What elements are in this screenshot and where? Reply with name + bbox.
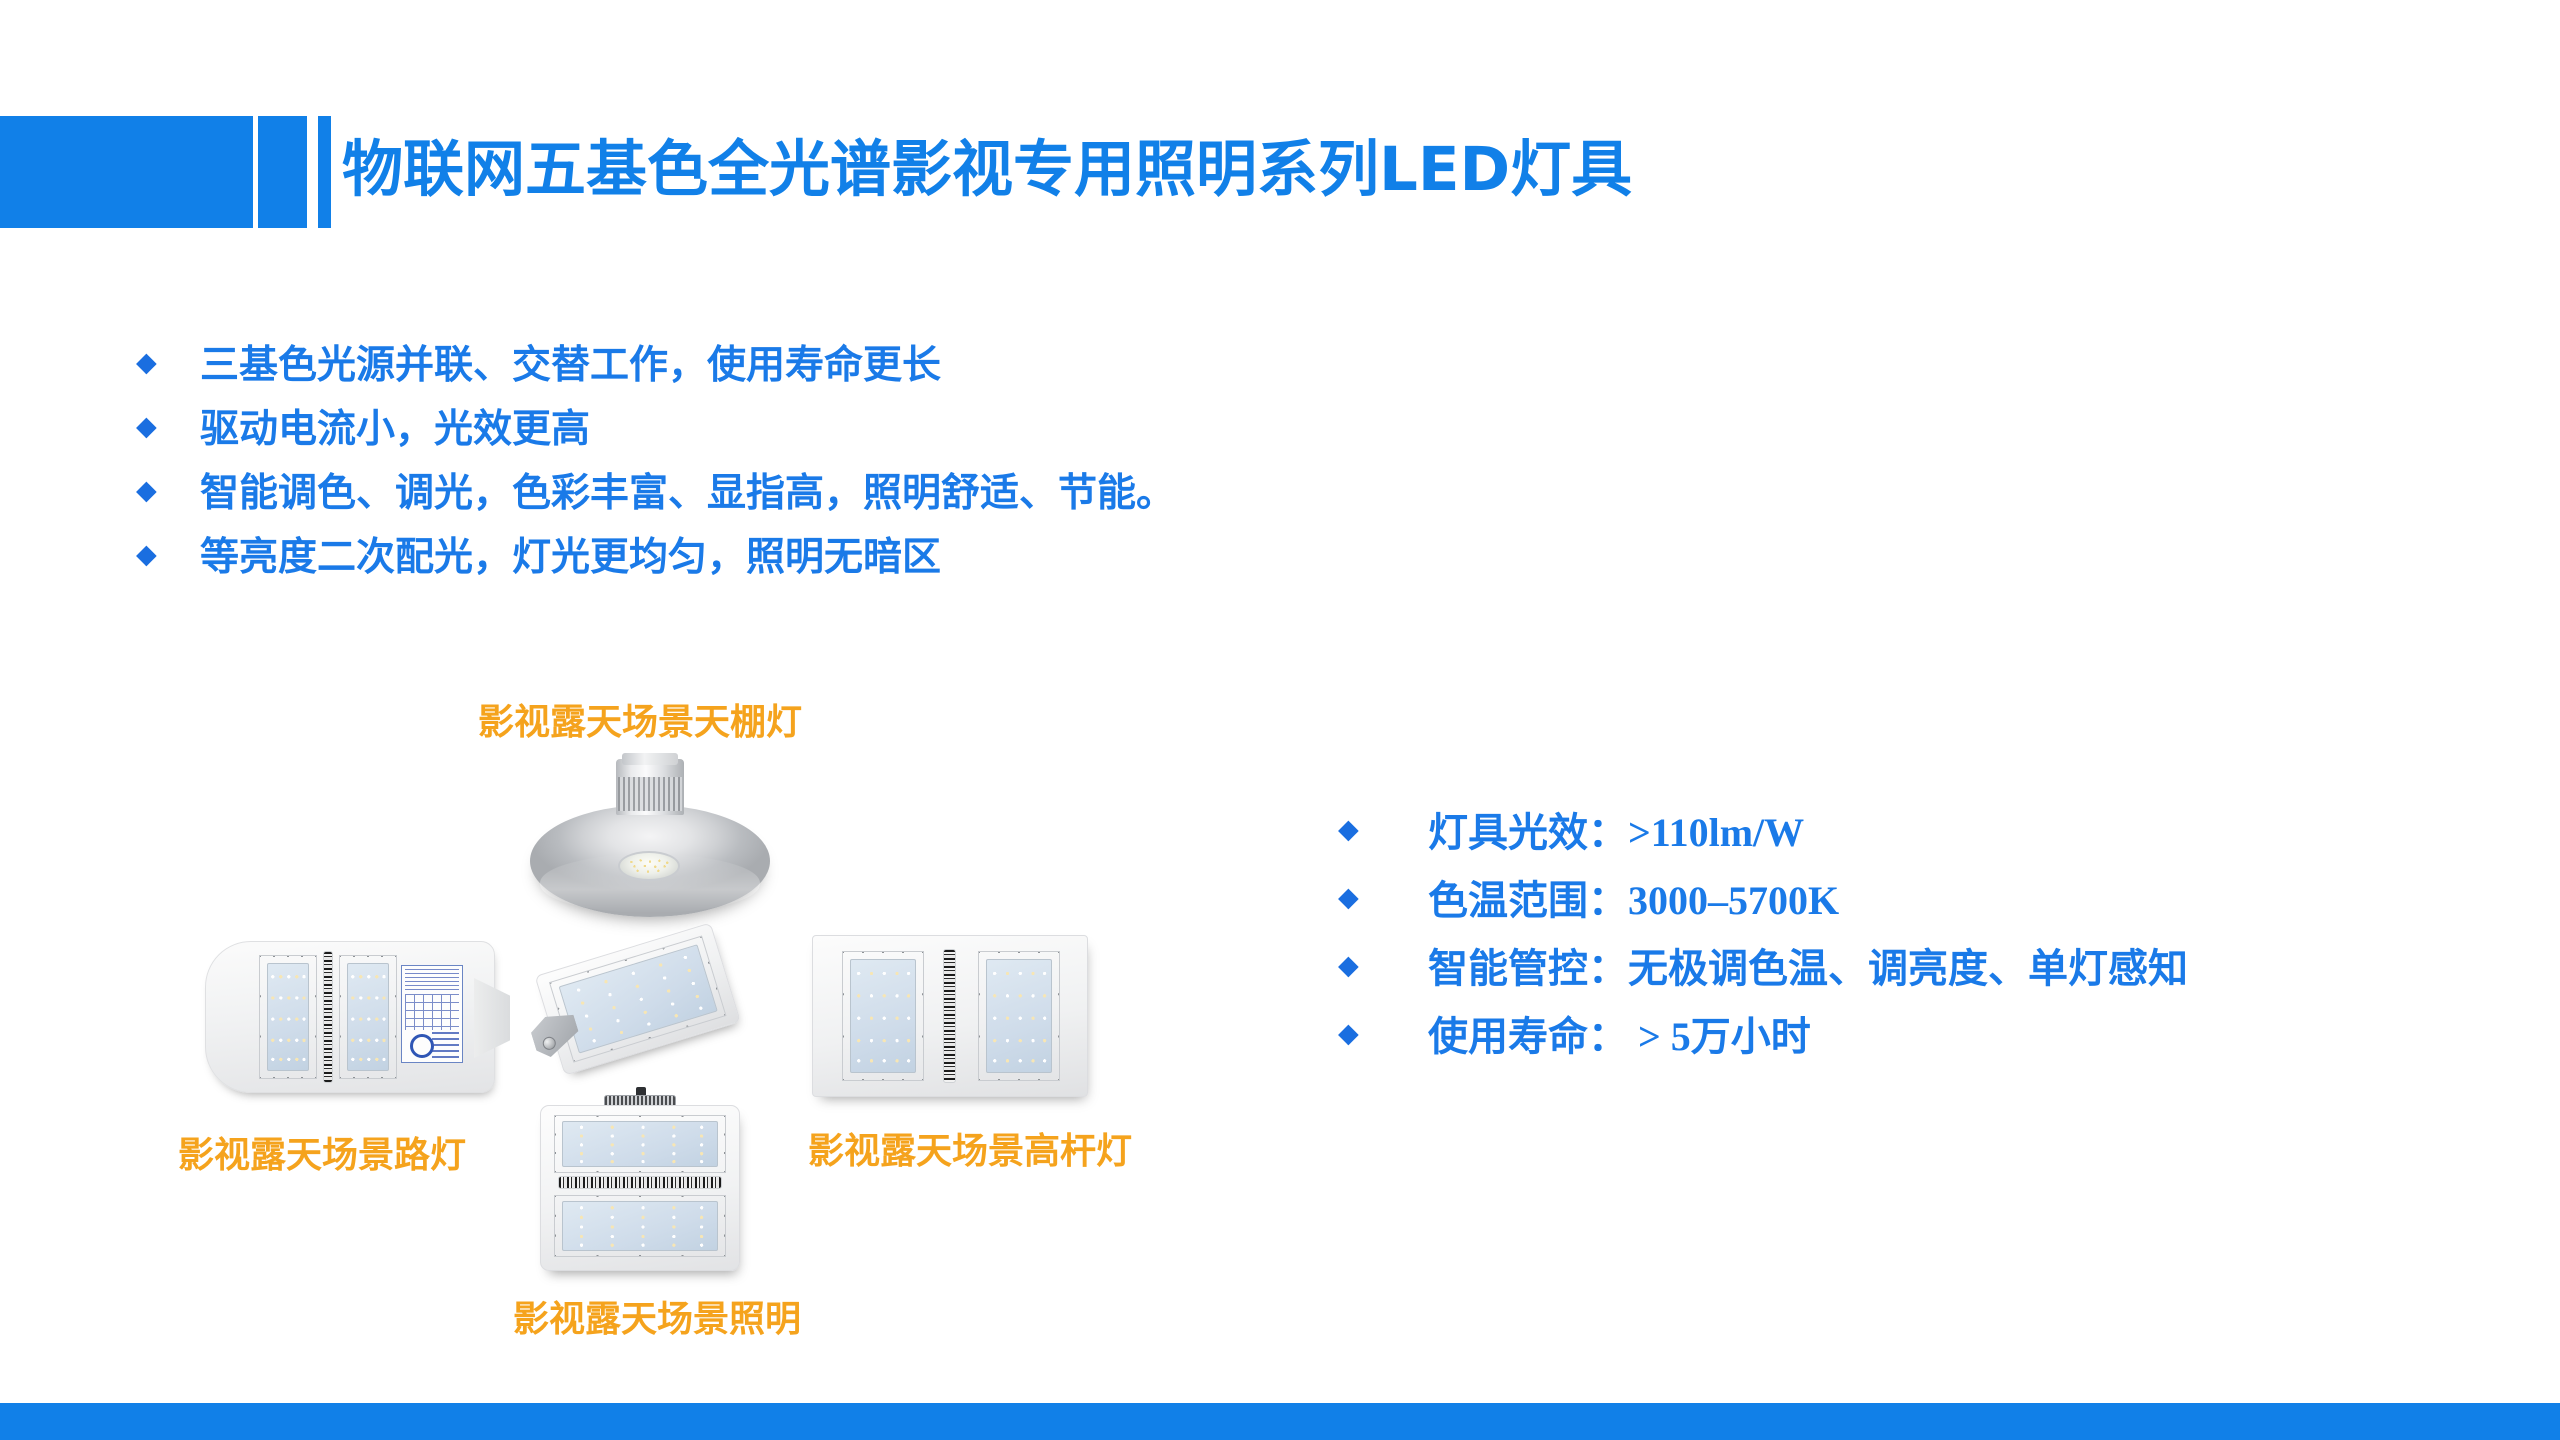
product-caption-highbay: 影视露天场景天棚灯 [478,693,802,745]
diamond-bullet-icon: ◆ [1318,952,1428,979]
slide-canvas: 物联网五基色全光谱影视专用照明系列LED灯具 ◆ 三基色光源并联、交替工作，使用… [0,0,2560,1440]
spec-text: 智能管控：无极调色温、调亮度、单灯感知 [1428,936,2188,994]
spec-text: 使用寿命： > 5万小时 [1428,1004,1811,1062]
highbay-led-lens [618,851,680,881]
list-item: ◆ 驱动电流小，光效更高 [110,394,1175,458]
feature-text: 三基色光源并联、交替工作，使用寿命更长 [200,334,941,390]
list-item: ◆ 等亮度二次配光，灯光更均匀，照明无暗区 [110,522,1175,586]
product-caption-street: 影视露天场景路灯 [178,1126,466,1178]
feature-text: 智能调色、调光，色彩丰富、显指高，照明舒适、节能。 [200,462,1175,518]
header-accent-bar-thin [318,116,331,228]
street-light-center-strip [323,951,333,1083]
header-accent-block [0,116,253,228]
diamond-bullet-icon: ◆ [110,477,200,504]
feature-text: 等亮度二次配光，灯光更均匀，照明无暗区 [200,526,941,582]
product-image-street-light [205,935,505,1105]
list-item: ◆ 三基色光源并联、交替工作，使用寿命更长 [110,330,1175,394]
flood-light-led-panel-top [562,1121,718,1167]
street-light-spec-label [401,965,463,1063]
product-caption-highpole: 影视露天场景高杆灯 [808,1122,1132,1174]
label-certification-icon [410,1034,434,1058]
highpole-center-strip [943,949,956,1083]
list-item: ◆ 智能管控：无极调色温、调亮度、单灯感知 [1318,931,2188,999]
diamond-bullet-icon: ◆ [1318,1020,1428,1047]
diamond-bullet-icon: ◆ [1318,816,1428,843]
diamond-bullet-icon: ◆ [110,349,200,376]
street-light-led-panel-right [347,963,389,1071]
product-image-highbay-light [530,745,770,930]
header-accent-bar-medium [258,116,307,228]
list-item: ◆ 灯具光效：>110lm/W [1318,795,2188,863]
highbay-top-cap [622,753,678,765]
diamond-bullet-icon: ◆ [1318,884,1428,911]
product-image-angled-flood-light [528,925,748,1095]
label-title-lines [405,969,459,991]
angled-flood-rotation-wrapper [511,896,765,1104]
diamond-bullet-icon: ◆ [110,413,200,440]
label-spec-grid [405,994,459,1030]
highbay-heatsink-fins [618,777,682,811]
feature-bullet-list: ◆ 三基色光源并联、交替工作，使用寿命更长 ◆ 驱动电流小，光效更高 ◆ 智能调… [110,330,1175,586]
street-light-led-panel-left [267,963,309,1071]
page-title: 物联网五基色全光谱影视专用照明系列LED灯具 [342,114,1632,226]
flood-light-led-panel-bottom [562,1201,718,1251]
spec-text: 色温范围：3000–5700K [1428,868,1839,926]
diamond-bullet-icon: ◆ [110,541,200,568]
label-text-lines [432,1032,459,1058]
feature-text: 驱动电流小，光效更高 [200,398,590,454]
footer-accent-bar [0,1403,2560,1440]
highpole-led-panel-left [850,959,916,1073]
flood-light-center-strip [558,1176,722,1189]
product-image-highpole-light [812,935,1094,1105]
list-item: ◆ 使用寿命： > 5万小时 [1318,999,2188,1067]
spec-bullet-list: ◆ 灯具光效：>110lm/W ◆ 色温范围：3000–5700K ◆ 智能管控… [1318,795,2188,1067]
list-item: ◆ 色温范围：3000–5700K [1318,863,2188,931]
highpole-led-panel-right [986,959,1052,1073]
product-caption-flood: 影视露天场景照明 [513,1290,801,1342]
spec-text: 灯具光效：>110lm/W [1428,800,1804,858]
list-item: ◆ 智能调色、调光，色彩丰富、显指高，照明舒适、节能。 [110,458,1175,522]
product-image-flood-light [540,1095,750,1275]
street-light-mount-tail [474,978,510,1058]
